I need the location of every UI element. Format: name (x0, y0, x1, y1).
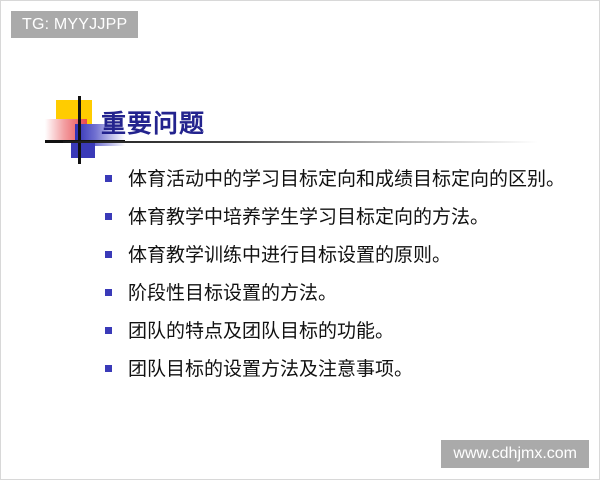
title-underline-rule (63, 141, 538, 143)
square-bullet-icon (105, 213, 112, 220)
tg-tag-badge: TG: MYYJJPP (11, 11, 138, 38)
site-watermark: www.cdhjmx.com (441, 440, 589, 468)
list-item-label: 体育教学中培养学生学习目标定向的方法。 (128, 202, 565, 232)
square-bullet-icon (105, 251, 112, 258)
square-bullet-icon (105, 365, 112, 372)
list-item-label: 体育教学训练中进行目标设置的原则。 (128, 240, 565, 270)
list-item-label: 体育活动中的学习目标定向和成绩目标定向的区别。 (128, 164, 565, 194)
list-item: 体育教学中培养学生学习目标定向的方法。 (105, 202, 565, 232)
page-title: 重要问题 (101, 104, 205, 140)
list-item: 体育活动中的学习目标定向和成绩目标定向的区别。 (105, 164, 565, 194)
deco-vertical-line (78, 96, 81, 164)
list-item: 团队目标的设置方法及注意事项。 (105, 354, 565, 384)
presentation-slide: TG: MYYJJPP 重要问题 体育活动中的学习目标定向和成绩目标定向的区别。… (0, 0, 600, 480)
square-bullet-icon (105, 175, 112, 182)
square-bullet-icon (105, 289, 112, 296)
list-item-label: 阶段性目标设置的方法。 (128, 278, 565, 308)
list-item: 团队的特点及团队目标的功能。 (105, 316, 565, 346)
bullet-list: 体育活动中的学习目标定向和成绩目标定向的区别。 体育教学中培养学生学习目标定向的… (105, 164, 565, 392)
list-item: 体育教学训练中进行目标设置的原则。 (105, 240, 565, 270)
list-item-label: 团队的特点及团队目标的功能。 (128, 316, 565, 346)
list-item: 阶段性目标设置的方法。 (105, 278, 565, 308)
list-item-label: 团队目标的设置方法及注意事项。 (128, 354, 565, 384)
square-bullet-icon (105, 327, 112, 334)
